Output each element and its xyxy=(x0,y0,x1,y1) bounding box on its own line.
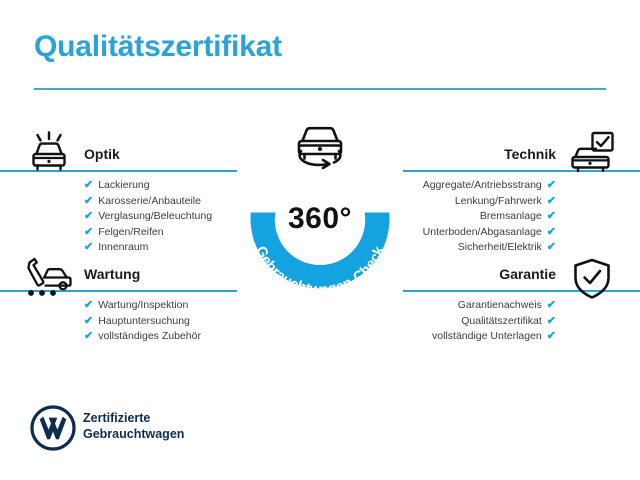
check-icon: ✔ xyxy=(547,225,556,241)
section-optik-underline xyxy=(84,170,237,172)
list-item: ✔Verglasung/Beleuchtung xyxy=(84,209,237,225)
list-item-label: Lenkung/Fahrwerk xyxy=(455,194,542,210)
section-technik-header: Technik xyxy=(403,144,556,172)
section-garantie-title: Garantie xyxy=(403,264,556,284)
section-garantie-underline xyxy=(403,290,556,292)
certificate-page: Qualitätszertifikat Optik ✔Lackierung xyxy=(0,0,640,480)
list-item-label: Karosserie/Anbauteile xyxy=(98,194,201,210)
list-item-label: Verglasung/Beleuchtung xyxy=(98,209,212,225)
title-underline xyxy=(34,88,606,90)
section-garantie-list: Garantienachweis✔ Qualitätszertifikat✔ v… xyxy=(403,292,556,345)
footer-brand-text: Zertifizierte Gebrauchtwagen xyxy=(83,410,184,442)
section-technik-underline xyxy=(403,170,556,172)
list-item-label: Aggregate/Antriebsstrang xyxy=(423,178,542,194)
footer-brand-line2: Gebrauchtwagen xyxy=(83,426,184,442)
check-icon: ✔ xyxy=(84,329,93,345)
section-technik-list: Aggregate/Antriebsstrang✔ Lenkung/Fahrwe… xyxy=(403,172,556,256)
section-garantie-header: Garantie xyxy=(403,264,556,292)
check-icon: ✔ xyxy=(547,298,556,314)
badge-center-label: 360° xyxy=(228,202,412,236)
list-item: ✔vollständiges Zubehör xyxy=(84,329,237,345)
section-garantie: Garantie Garantienachweis✔ Qualitätszert… xyxy=(403,264,556,345)
list-item: ✔Innenraum xyxy=(84,240,237,256)
list-item: ✔Hauptuntersuchung xyxy=(84,314,237,330)
section-wartung-list: ✔Wartung/Inspektion ✔Hauptuntersuchung ✔… xyxy=(84,292,237,345)
wrench-car-icon xyxy=(22,256,74,303)
list-item: Lenkung/Fahrwerk✔ xyxy=(403,194,556,210)
check-icon: ✔ xyxy=(547,178,556,194)
check-icon: ✔ xyxy=(84,314,93,330)
section-technik-title: Technik xyxy=(403,144,556,164)
check-icon: ✔ xyxy=(84,178,93,194)
list-item-label: Unterboden/Abgasanlage xyxy=(423,225,542,241)
list-item: ✔Felgen/Reifen xyxy=(84,225,237,241)
list-item-label: Hauptuntersuchung xyxy=(98,314,190,330)
list-item: ✔Karosserie/Anbauteile xyxy=(84,194,237,210)
check-icon: ✔ xyxy=(84,194,93,210)
section-optik-list: ✔Lackierung ✔Karosserie/Anbauteile ✔Verg… xyxy=(84,172,237,256)
section-wartung-underline xyxy=(84,290,237,292)
car-headlights-icon xyxy=(25,131,73,178)
list-item: ✔Lackierung xyxy=(84,178,237,194)
section-wartung-header: Wartung xyxy=(84,264,237,292)
list-item: ✔Wartung/Inspektion xyxy=(84,298,237,314)
list-item-label: Sicherheit/Elektrik xyxy=(458,240,542,256)
badge-360-gebrauchtwagen-check: Gebrauchtwagen-Check 360° xyxy=(228,150,412,302)
section-technik: Technik Aggregate/Antriebsstrang✔ Lenkun… xyxy=(403,144,556,256)
section-optik: Optik ✔Lackierung ✔Karosserie/Anbauteile… xyxy=(84,144,237,256)
section-wartung: Wartung ✔Wartung/Inspektion ✔Hauptunters… xyxy=(84,264,237,345)
list-item: Sicherheit/Elektrik✔ xyxy=(403,240,556,256)
page-title: Qualitätszertifikat xyxy=(34,32,282,62)
list-item-label: Innenraum xyxy=(98,240,148,256)
check-icon: ✔ xyxy=(547,194,556,210)
section-optik-header: Optik xyxy=(84,144,237,172)
check-icon: ✔ xyxy=(547,314,556,330)
check-icon: ✔ xyxy=(547,209,556,225)
list-item: Garantienachweis✔ xyxy=(403,298,556,314)
list-item: Qualitätszertifikat✔ xyxy=(403,314,556,330)
list-item: Bremsanlage✔ xyxy=(403,209,556,225)
list-item: vollständige Unterlagen✔ xyxy=(403,329,556,345)
section-optik-title: Optik xyxy=(84,144,237,164)
car-checkbox-icon xyxy=(567,131,615,178)
check-icon: ✔ xyxy=(84,240,93,256)
list-item-label: Qualitätszertifikat xyxy=(461,314,542,330)
list-item-label: vollständige Unterlagen xyxy=(432,329,542,345)
volkswagen-logo xyxy=(30,405,76,456)
list-item-label: Felgen/Reifen xyxy=(98,225,163,241)
check-icon: ✔ xyxy=(84,209,93,225)
check-icon: ✔ xyxy=(547,240,556,256)
footer-brand-line1: Zertifizierte xyxy=(83,410,184,426)
check-icon: ✔ xyxy=(547,329,556,345)
list-item-label: Lackierung xyxy=(98,178,149,194)
list-item-label: vollständiges Zubehör xyxy=(98,329,201,345)
check-icon: ✔ xyxy=(84,298,93,314)
list-item: Unterboden/Abgasanlage✔ xyxy=(403,225,556,241)
section-wartung-title: Wartung xyxy=(84,264,237,284)
shield-check-icon xyxy=(572,258,612,305)
list-item-label: Wartung/Inspektion xyxy=(98,298,188,314)
list-item-label: Garantienachweis xyxy=(458,298,542,314)
check-icon: ✔ xyxy=(84,225,93,241)
list-item: Aggregate/Antriebsstrang✔ xyxy=(403,178,556,194)
list-item-label: Bremsanlage xyxy=(480,209,542,225)
